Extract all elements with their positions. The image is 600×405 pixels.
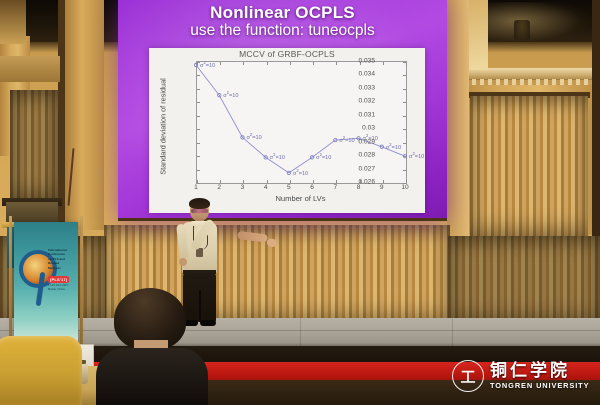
banner-tag: (PLS'17) — [48, 276, 69, 283]
watermark-english-name: TONGREN UNIVERSITY — [490, 381, 589, 390]
slide-title-line1: Nonlinear OCPLS — [118, 4, 447, 22]
university-seal-icon: 工 — [452, 360, 484, 392]
audience-body — [96, 348, 208, 405]
chandelier — [470, 2, 590, 44]
chart-y-tick-label: 0.034 — [331, 71, 375, 78]
presenter-glasses — [191, 209, 208, 213]
chart-y-tick-label: 0.031 — [331, 111, 375, 118]
slide-title-line2: use the function: tuneocpls — [118, 23, 447, 39]
watermark: 工 铜仁学院 TONGREN UNIVERSITY — [452, 358, 594, 394]
chart-figure: MCCV of GRBF-OCPLS Standard deviation of… — [149, 48, 425, 213]
presenter-left-hand — [179, 258, 187, 266]
chart-y-tick-label: 0.026 — [331, 179, 375, 186]
chart-line-svg — [196, 61, 405, 182]
curtain-right — [470, 96, 588, 236]
banner-title-block: International Conference on PLS and Rela… — [48, 248, 76, 270]
banner-title-line-4: Methods — [48, 266, 76, 270]
stage-seam-v3 — [452, 318, 453, 346]
chart-y-tick-label: 0.033 — [331, 84, 375, 91]
presenter-hair — [189, 198, 210, 209]
chart-title: MCCV of GRBF-OCPLS — [149, 49, 425, 59]
chart-point-annotation: σ2=10 — [386, 142, 401, 151]
chart-point-annotation: σ2=10 — [409, 151, 424, 160]
watermark-text: 铜仁学院 TONGREN UNIVERSITY — [490, 362, 589, 390]
chart-x-tick-label: 9 — [380, 184, 384, 191]
slide-title: Nonlinear OCPLS use the function: tuneoc… — [118, 4, 447, 39]
chart-x-tick-label: 3 — [241, 184, 245, 191]
chart-point-annotation: σ2=10 — [293, 168, 308, 177]
chart-y-tick-label: 0.03 — [331, 125, 375, 132]
chart-x-tick-label: 7 — [333, 184, 337, 191]
chart-y-axis-label: Standard deviation of residual — [159, 77, 168, 177]
wall-panel-left-upper — [0, 0, 26, 44]
chart-y-tick-label: 0.028 — [331, 152, 375, 159]
projection-screen: Nonlinear OCPLS use the function: tuneoc… — [118, 0, 447, 221]
chart-x-tick-label: 2 — [217, 184, 221, 191]
curtain-left — [10, 90, 58, 200]
chart-point-annotation: σ2=10 — [316, 152, 331, 161]
chart-x-tick-label: 1 — [194, 184, 198, 191]
chart-x-tick-label: 8 — [357, 184, 361, 191]
curtain-stage-right — [448, 236, 600, 324]
podium-panel — [6, 202, 58, 222]
chart-x-tick-label: 4 — [264, 184, 268, 191]
audience-chair — [0, 336, 82, 405]
watermark-chinese-name: 铜仁学院 — [490, 362, 589, 379]
chart-point-annotation: σ2=10 — [270, 152, 285, 161]
chart-x-tick-label: 5 — [287, 184, 291, 191]
chart-point-annotation: σ2=10 — [246, 132, 261, 141]
stage-seam-v2 — [300, 318, 301, 346]
wall-edge-right — [592, 0, 600, 240]
chart-y-tick-label: 0.032 — [331, 98, 375, 105]
chart-inner: MCCV of GRBF-OCPLS Standard deviation of… — [149, 48, 425, 213]
chart-y-tick-label: 0.029 — [331, 138, 375, 145]
screenshot-root: Nonlinear OCPLS use the function: tuneoc… — [0, 0, 600, 405]
chart-series-layer: σ2=10σ2=10σ2=10σ2=10σ2=10σ2=10σ2=10σ2=10… — [196, 61, 405, 182]
banner-location: Macau, China — [48, 288, 68, 292]
chart-x-axis-label: Number of LVs — [196, 194, 405, 203]
chart-y-tick-label: 0.027 — [331, 165, 375, 172]
chart-x-tick — [406, 180, 407, 183]
chart-point-annotation: σ2=10 — [200, 60, 215, 69]
chart-x-tick-label: 6 — [310, 184, 314, 191]
screen-edge-bottom — [118, 218, 447, 221]
wall-band-left — [0, 56, 60, 82]
audience-member — [96, 288, 208, 405]
chart-y-tick-label: 0.035 — [331, 58, 375, 65]
chart-x-tick-top — [406, 62, 407, 65]
screen-surround-right — [447, 0, 469, 236]
chart-point-annotation: σ2=10 — [223, 90, 238, 99]
banner-date-location: 17-19 June 2017 Macau, China — [48, 284, 68, 292]
chart-x-tick-label: 10 — [401, 184, 408, 191]
